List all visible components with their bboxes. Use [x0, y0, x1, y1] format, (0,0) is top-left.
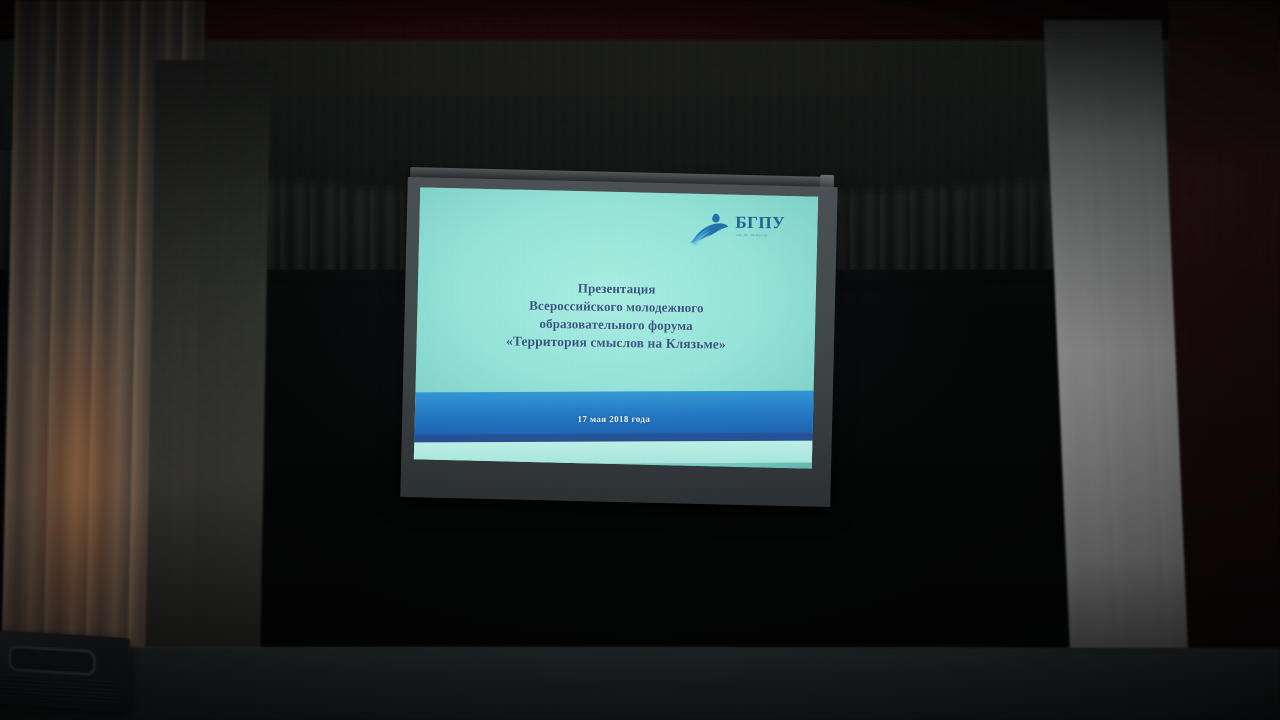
bgpu-logo-subtitle: им. М. Акмуллы — [736, 233, 768, 237]
bgpu-wordmark: БГПУ — [735, 213, 785, 233]
warm-stage-light — [30, 300, 147, 630]
stage-floor — [0, 648, 1280, 720]
speaker-handle-icon — [8, 645, 96, 676]
projected-slide: БГПУ им. М. Акмуллы Презентация Всеросси… — [414, 187, 818, 468]
bgpu-swoosh-icon — [689, 211, 733, 247]
slide-title: Презентация Всероссийского молодежного о… — [417, 277, 816, 355]
speaker-grille — [0, 674, 118, 703]
projection-screen-assembly: БГПУ им. М. Акмуллы Презентация Всеросси… — [404, 172, 834, 502]
side-curtain-left-inner — [144, 60, 270, 700]
stage-monitor-speaker — [0, 630, 130, 713]
slide-date: 17 мая 2018 года — [415, 413, 813, 424]
auditorium-stage-photo: БГПУ им. М. Акмуллы Презентация Всеросси… — [0, 0, 1280, 720]
bgpu-logo: БГПУ им. М. Акмуллы — [689, 209, 797, 252]
